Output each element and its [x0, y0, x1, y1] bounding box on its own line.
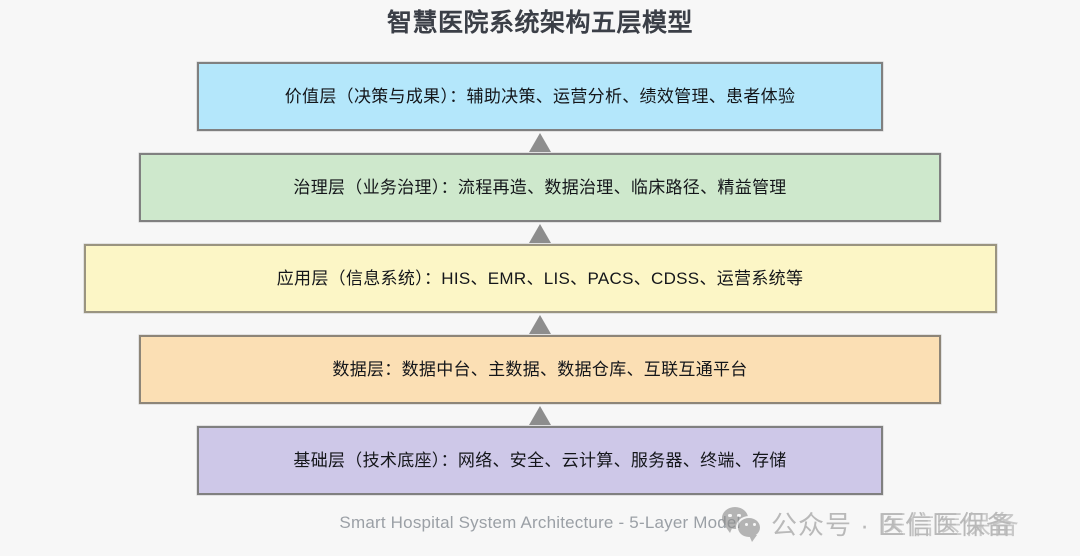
layer-label-data: 数据层：数据中台、主数据、数据仓库、互联互通平台 — [332, 359, 747, 381]
layer-row: 数据层：数据中台、主数据、数据仓库、互联互通平台 — [0, 335, 1080, 404]
layer-box-infrastructure[interactable]: 基础层（技术底座）：网络、安全、云计算、服务器、终端、存储 — [197, 426, 883, 495]
layer-box-application[interactable]: 应用层（信息系统）：HIS、EMR、LIS、PACS、CDSS、运营系统等 — [84, 244, 997, 313]
page-subtitle: Smart Hospital System Architecture - 5-L… — [0, 513, 1080, 533]
connector-4 — [0, 404, 1080, 426]
layer-box-data[interactable]: 数据层：数据中台、主数据、数据仓库、互联互通平台 — [139, 335, 941, 404]
layer-label-governance: 治理层（业务治理）：流程再造、数据治理、临床路径、精益管理 — [293, 177, 786, 199]
layer-row: 治理层（业务治理）：流程再造、数据治理、临床路径、精益管理 — [0, 153, 1080, 222]
diagram-canvas: 智慧医院系统架构五层模型 价值层（决策与成果）：辅助决策、运营分析、绩效管理、患… — [0, 0, 1080, 556]
layer-label-application: 应用层（信息系统）：HIS、EMR、LIS、PACS、CDSS、运营系统等 — [277, 268, 804, 290]
connector-1 — [0, 131, 1080, 153]
layer-row: 基础层（技术底座）：网络、安全、云计算、服务器、终端、存储 — [0, 426, 1080, 495]
layer-label-value: 价值层（决策与成果）：辅助决策、运营分析、绩效管理、患者体验 — [285, 86, 796, 108]
triangle-up-icon — [529, 406, 551, 425]
layer-box-value[interactable]: 价值层（决策与成果）：辅助决策、运营分析、绩效管理、患者体验 — [197, 62, 883, 131]
connector-3 — [0, 313, 1080, 335]
layer-row: 价值层（决策与成果）：辅助决策、运营分析、绩效管理、患者体验 — [0, 62, 1080, 131]
layer-stack: 价值层（决策与成果）：辅助决策、运营分析、绩效管理、患者体验 治理层（业务治理）… — [0, 62, 1080, 495]
connector-2 — [0, 222, 1080, 244]
layer-row: 应用层（信息系统）：HIS、EMR、LIS、PACS、CDSS、运营系统等 — [0, 244, 1080, 313]
triangle-up-icon — [529, 224, 551, 243]
triangle-up-icon — [529, 315, 551, 334]
layer-box-governance[interactable]: 治理层（业务治理）：流程再造、数据治理、临床路径、精益管理 — [139, 153, 941, 222]
page-title: 智慧医院系统架构五层模型 — [0, 6, 1080, 40]
layer-label-infrastructure: 基础层（技术底座）：网络、安全、云计算、服务器、终端、存储 — [293, 450, 786, 472]
triangle-up-icon — [529, 133, 551, 152]
